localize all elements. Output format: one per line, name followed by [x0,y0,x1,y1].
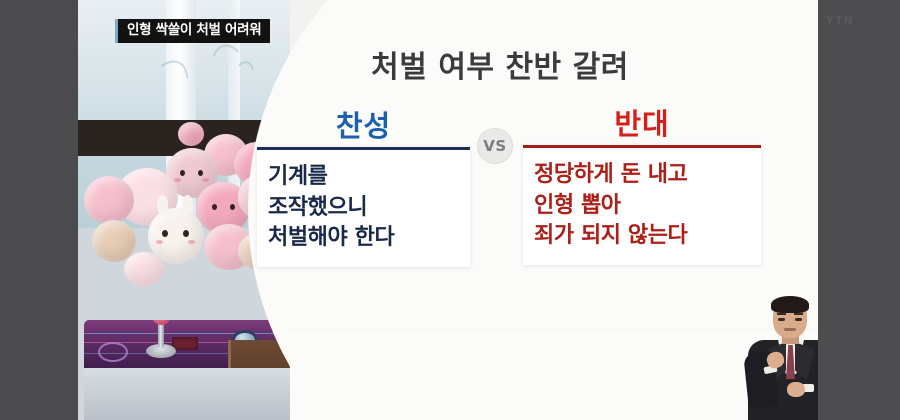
cabinet-base [84,368,290,420]
versus-badge: VS [477,128,513,164]
pro-heading: 찬성 [257,110,470,147]
con-side: 반대 정당하게 돈 내고 인형 뽑아 죄가 되지 않는다 [523,108,761,265]
con-claim-box: 정당하게 돈 내고 인형 뽑아 죄가 되지 않는다 [523,145,761,265]
interpreter-mouth [784,328,796,331]
page-title: 처벌 여부 찬반 갈려 [290,42,710,86]
panel-neon-line [84,333,290,334]
panel-decoration-ring [98,342,128,362]
interpreter-hair [771,296,809,313]
news-ticker-banner: 인형 싹쓸이 처벌 어려워 [118,19,270,43]
interpreter-eye-left [778,318,785,321]
pro-claim-line-2: 조작했으니 [268,193,459,223]
con-claim-line-2: 인형 뽑아 [534,191,750,221]
pro-claim-box: 기계를 조작했으니 처벌해야 한다 [257,147,470,267]
coin-slot[interactable] [172,337,198,350]
interpreter-brow-left [777,313,786,315]
interpreter-hand-right [787,382,805,397]
channel-watermark: YTN [826,14,854,27]
con-claim-line-3: 죄가 되지 않는다 [534,221,750,251]
pro-side: 찬성 기계를 조작했으니 처벌해야 한다 [257,110,470,267]
plush-doll [178,122,204,146]
panel-seam [290,329,818,330]
con-claim-line-1: 정당하게 돈 내고 [534,160,750,190]
pro-claim-line-1: 기계를 [268,162,459,192]
letterbox-bar-left [0,0,78,420]
con-heading: 반대 [523,108,761,145]
joystick-knob[interactable] [152,320,171,325]
pro-claim-line-3: 처벌해야 한다 [268,223,459,253]
plush-doll [124,252,164,286]
news-ticker-text: 인형 싹쓸이 처벌 어려워 [127,22,261,39]
interpreter-brow-right [794,313,803,315]
interpreter-eye-right [795,318,802,321]
letterbox-bar-right: YTN [818,0,900,420]
plush-doll [84,176,134,224]
broadcast-screen: 처벌 여부 찬반 갈려 찬성 기계를 조작했으니 처벌해야 한다 VS 반대 정… [0,0,900,420]
